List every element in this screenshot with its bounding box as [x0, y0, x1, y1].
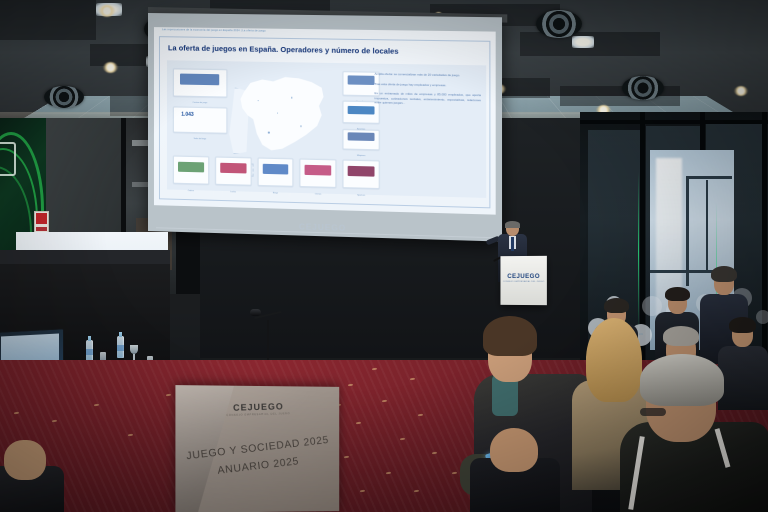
slide-map-column: Casinos de juego 1.043 Salas de bingo Co… — [167, 60, 369, 195]
slide-logo-card: Casinos de juego — [173, 68, 227, 97]
ceiling-light-panel — [572, 36, 594, 48]
speaker-hair — [505, 221, 520, 228]
slide-big-number: 1.043 — [181, 112, 194, 118]
ceiling-downlight — [734, 86, 748, 96]
ceiling-dark-tile — [0, 0, 96, 40]
slide-watermark-logo: CEJUEGO — [299, 222, 346, 233]
projection-screen: Las repercusiones de la economía del jue… — [148, 13, 502, 242]
lectern-subtitle: CONSEJO EMPRESARIAL DEL JUEGO — [500, 281, 546, 283]
spain-map-shape — [235, 72, 326, 165]
water-bottle — [86, 340, 93, 362]
fire-extinguisher-sign — [34, 211, 49, 233]
banner-mark — [0, 142, 16, 176]
presentation-slide: Las repercusiones de la economía del jue… — [154, 27, 496, 215]
glass-header-rail — [580, 120, 768, 124]
ceiling-downlight — [99, 5, 115, 17]
slide-paragraph: Amplia oferta: se comercializan más de 2… — [375, 72, 481, 78]
conference-room-photo: Las repercusiones de la economía del jue… — [0, 0, 768, 512]
audience-grey-man-foreground — [612, 352, 768, 512]
slide-text-column: Amplia oferta: se comercializan más de 2… — [369, 64, 486, 198]
speaker-tie — [511, 237, 514, 251]
eyeglasses — [640, 408, 666, 416]
panel-table-edge — [0, 250, 170, 264]
water-bottle — [117, 336, 124, 358]
slide-paragraph: Tras esta oferta de juego hay empleados … — [375, 81, 481, 87]
slide-logo-card: 1.043 Salas de bingo — [173, 107, 227, 133]
audience-bald-man — [470, 428, 560, 512]
slide-card-caption: Salas de bingo — [176, 138, 224, 141]
slide-logo-card: Luckia — [215, 157, 251, 186]
lectern: CEJUEGO CONSEJO EMPRESARIAL DEL JUEGO — [500, 256, 546, 305]
ceiling-air-vent — [44, 86, 84, 108]
ceiling-air-vent — [622, 76, 664, 100]
table-microphone — [252, 306, 286, 368]
slide-logo-card: Codere — [173, 156, 209, 185]
slide-paragraph: Es un entramado de miles de empresas y 8… — [375, 91, 481, 107]
slide-logo-card: Orenes — [300, 159, 337, 188]
slide-card-caption: Casinos de juego — [176, 102, 224, 105]
front-podium-sign: CEJUEGO CONSEJO EMPRESARIAL DEL JUEGO JU… — [175, 385, 339, 512]
slide-breadcrumb: Las repercusiones de la economía del jue… — [162, 28, 266, 32]
lectern-logo: CEJUEGO — [500, 273, 546, 280]
slide-body: Casinos de juego 1.043 Salas de bingo Co… — [167, 60, 486, 198]
slide-logo-card: Bingo — [257, 158, 293, 187]
audience-foreground-left — [0, 440, 64, 512]
ceiling-downlight — [103, 62, 118, 73]
ceiling-air-vent — [536, 10, 582, 38]
